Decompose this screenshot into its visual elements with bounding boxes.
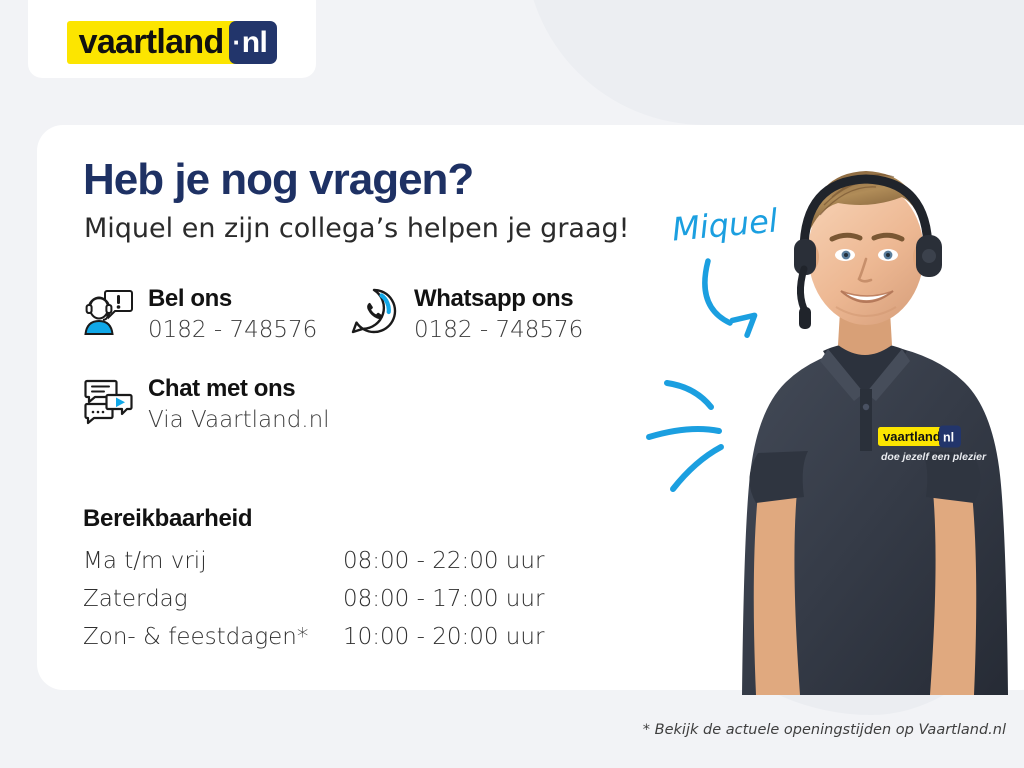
hours-title: Bereikbaarheid	[83, 505, 252, 533]
page-subtitle: Miquel en zijn collega’s helpen je graag…	[84, 213, 629, 244]
contact-option-bel-ons[interactable]: Bel ons 0182 - 748576	[82, 286, 317, 343]
headset-person-icon	[82, 286, 134, 336]
contact-option-chat[interactable]: Chat met ons Via Vaartland.nl	[82, 376, 330, 433]
contact-label-whatsapp: Whatsapp ons	[414, 286, 583, 311]
hours-time: 10:00 - 20:00 uur	[343, 624, 544, 662]
table-row: Ma t/m vrij 08:00 - 22:00 uur	[83, 548, 544, 586]
contact-value-bel-ons[interactable]: 0182 - 748576	[148, 317, 317, 343]
contact-value-whatsapp[interactable]: 0182 - 748576	[414, 317, 583, 343]
contact-value-chat[interactable]: Via Vaartland.nl	[148, 407, 330, 433]
table-row: Zon- & feestdagen* 10:00 - 20:00 uur	[83, 624, 544, 662]
brand-logo: vaartland ·nl	[67, 21, 278, 64]
page-title: Heb je nog vragen?	[83, 155, 473, 205]
chat-bubbles-icon	[82, 376, 134, 426]
contact-text-bel-ons: Bel ons 0182 - 748576	[148, 286, 317, 343]
brand-logo-card[interactable]: vaartland ·nl	[28, 0, 316, 78]
contact-text-whatsapp: Whatsapp ons 0182 - 748576	[414, 286, 583, 343]
contact-text-chat: Chat met ons Via Vaartland.nl	[148, 376, 330, 433]
hours-day: Zaterdag	[83, 586, 343, 624]
hours-time: 08:00 - 22:00 uur	[343, 548, 544, 586]
table-row: Zaterdag 08:00 - 17:00 uur	[83, 586, 544, 624]
hours-day: Ma t/m vrij	[83, 548, 343, 586]
whatsapp-icon	[348, 286, 400, 336]
brand-logo-dot: ·	[233, 27, 241, 58]
background-shape-top-right	[525, 0, 1024, 125]
hours-table: Ma t/m vrij 08:00 - 22:00 uur Zaterdag 0…	[83, 548, 544, 662]
contact-option-whatsapp[interactable]: Whatsapp ons 0182 - 748576	[348, 286, 583, 343]
shirt-logo-tld: nl	[943, 431, 954, 445]
footer-note: * Bekijk de actuele openingstijden op Va…	[643, 722, 1006, 738]
contact-label-bel-ons: Bel ons	[148, 286, 317, 311]
brand-logo-wordmark: vaartland	[67, 21, 235, 64]
hours-time: 08:00 - 17:00 uur	[343, 586, 544, 624]
hours-day: Zon- & feestdagen*	[83, 624, 343, 662]
brand-logo-tld: ·nl	[229, 21, 278, 64]
curved-arrow-icon	[700, 255, 810, 350]
shirt-tagline: doe jezelf een plezier	[881, 451, 987, 463]
contact-label-chat: Chat met ons	[148, 376, 330, 401]
accent-dashes-icon	[645, 365, 765, 510]
shirt-logo-wordmark: vaartland	[883, 429, 941, 444]
brand-logo-tld-text: nl	[242, 26, 268, 60]
